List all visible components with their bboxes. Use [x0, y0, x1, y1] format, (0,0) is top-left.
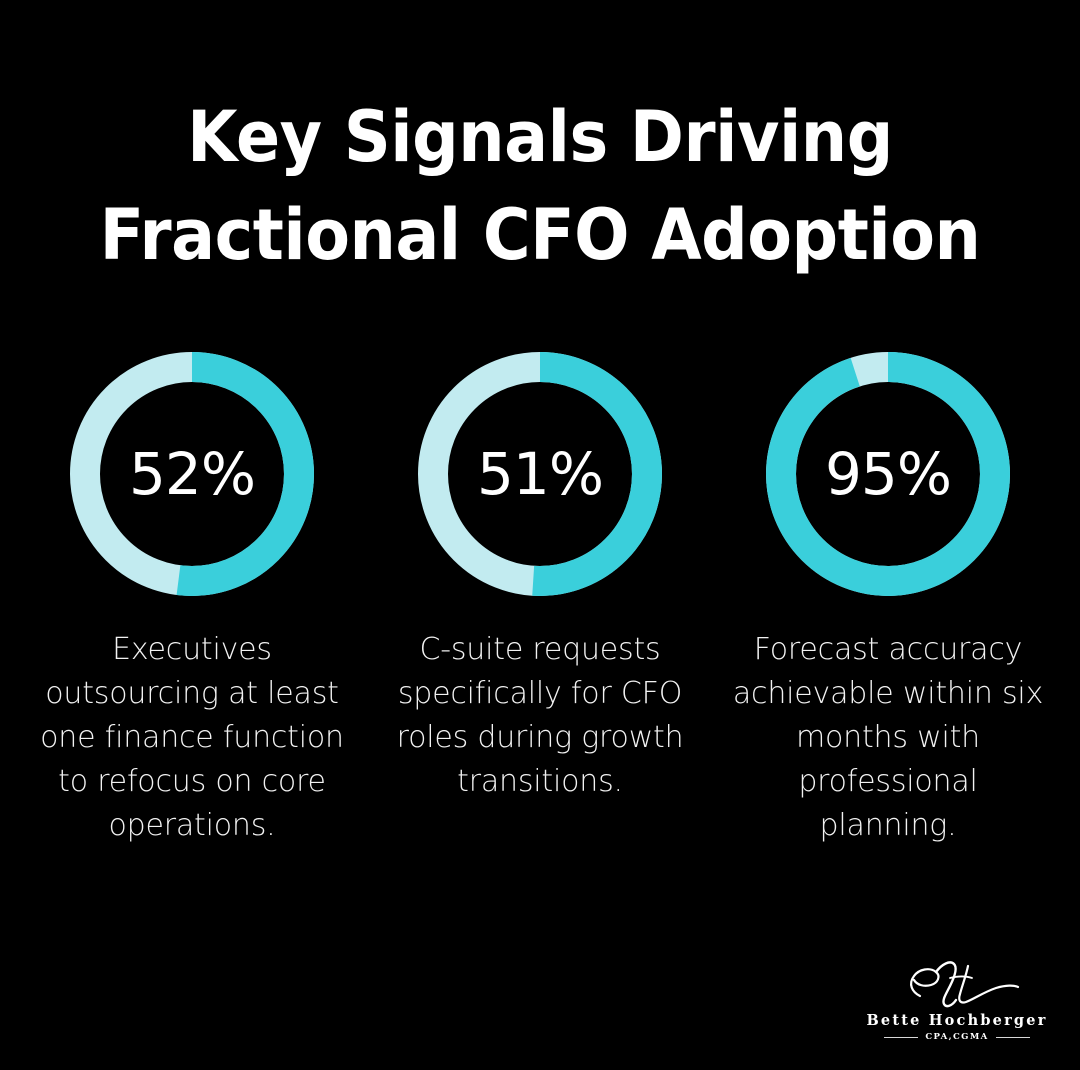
logo-credential-row: CPA,CGMA: [862, 1032, 1052, 1042]
monogram-bh-icon: [862, 952, 1052, 1010]
stat-caption-2: C-suite requests specifically for CFO ro…: [380, 628, 700, 804]
stat-columns: 52% Executives outsourcing at least one …: [0, 352, 1080, 848]
stat-caption-3: Forecast accuracy achievable within six …: [728, 628, 1048, 848]
logo-rule-left: [884, 1037, 918, 1038]
logo-name: Bette Hochberger: [862, 1012, 1052, 1029]
title-line-2: Fractional CFO Adoption: [38, 186, 1042, 284]
brand-logo: Bette Hochberger CPA,CGMA: [862, 952, 1052, 1042]
logo-credential: CPA,CGMA: [925, 1032, 988, 1042]
infographic-canvas: Key Signals Driving Fractional CFO Adopt…: [0, 0, 1080, 1070]
donut-value-3: 95%: [825, 445, 951, 503]
donut-value-1: 52%: [129, 445, 255, 503]
stat-column-2: 51% C-suite requests specifically for CF…: [366, 352, 714, 804]
donut-chart-1: 52%: [70, 352, 314, 596]
page-title: Key Signals Driving Fractional CFO Adopt…: [0, 88, 1080, 284]
donut-chart-2: 51%: [418, 352, 662, 596]
stat-caption-1: Executives outsourcing at least one fina…: [32, 628, 352, 848]
logo-rule-right: [996, 1037, 1030, 1038]
stat-column-3: 95% Forecast accuracy achievable within …: [714, 352, 1062, 848]
title-line-1: Key Signals Driving: [38, 88, 1042, 186]
donut-chart-3: 95%: [766, 352, 1010, 596]
donut-value-2: 51%: [477, 445, 603, 503]
stat-column-1: 52% Executives outsourcing at least one …: [18, 352, 366, 848]
